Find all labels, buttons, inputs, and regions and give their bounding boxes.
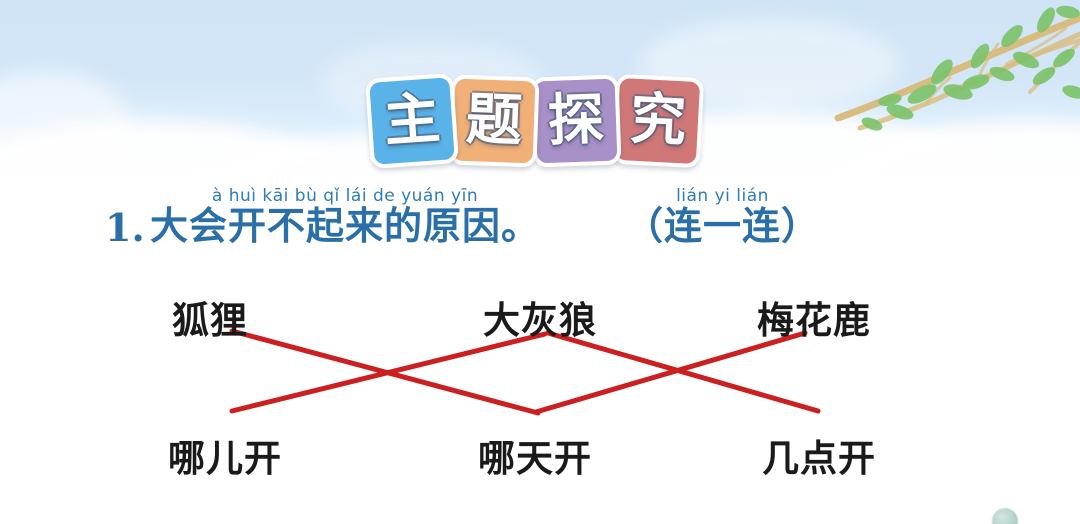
match-item-top-2[interactable]: 大灰狼: [483, 290, 597, 344]
match-item-top-3[interactable]: 梅花鹿: [757, 290, 871, 344]
title-tile-2: 题: [448, 74, 539, 167]
title-char-3: 探: [547, 92, 605, 150]
match-line: [548, 333, 818, 411]
title-char-4: 究: [629, 92, 688, 151]
match-item-top-1[interactable]: 狐狸: [172, 290, 248, 344]
title-char-2: 题: [465, 92, 523, 150]
title-tile-4: 究: [612, 74, 705, 168]
page-title: 主 题 探 究: [368, 76, 696, 166]
match-line: [536, 333, 805, 412]
title-char-1: 主: [382, 91, 442, 151]
match-item-bottom-2[interactable]: 哪天开: [478, 428, 592, 482]
match-item-bottom-1[interactable]: 哪儿开: [168, 428, 282, 482]
match-item-bottom-3[interactable]: 几点开: [762, 428, 876, 482]
title-tile-3: 探: [530, 74, 621, 167]
slide-page: 主 题 探 究 1. à huì kāi bù qǐ lái de yuán y…: [0, 0, 1080, 524]
title-tile-1: 主: [365, 73, 459, 169]
